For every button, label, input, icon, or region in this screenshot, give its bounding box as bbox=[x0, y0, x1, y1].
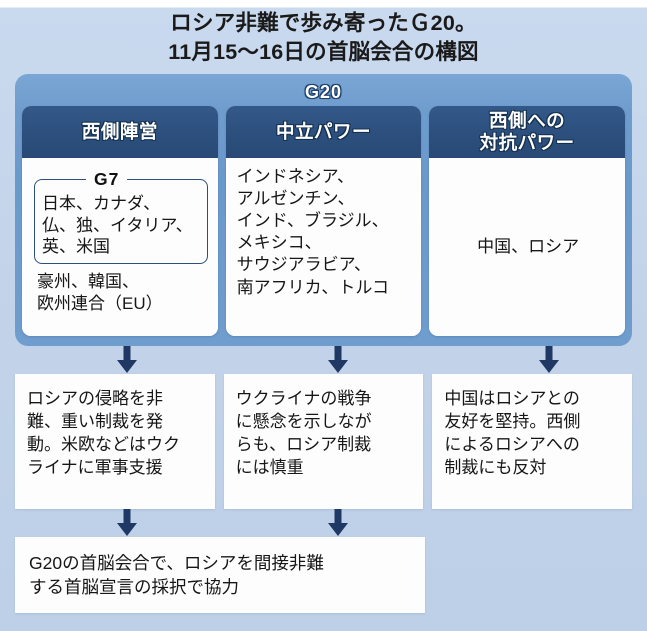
camp-counter-western-header-line-2: 対抗パワー bbox=[480, 132, 575, 154]
outcome-box-neutral: ウクライナの戦争 に懸念を示しなが らも、ロシア制裁 には慎重 bbox=[224, 374, 424, 509]
neutral-member-line-6: 南アフリカ、トルコ bbox=[237, 277, 413, 299]
neutral-member-line-3: インド、ブラジル、 bbox=[237, 210, 413, 232]
western-bloc-extra-members: 豪州、韓国、 欧州連合（EU） bbox=[33, 270, 209, 315]
down-arrow-icon-to-conclusion-right bbox=[325, 509, 351, 537]
g7-group-legend: G7 bbox=[86, 168, 127, 191]
neutral-powers-member-list: インドネシア、 アルゼンチン、 インド、ブラジル、 メキシコ、 サウジアラビア、… bbox=[237, 166, 413, 299]
outcome-western-line-4: ライナに軍事支援 bbox=[27, 456, 205, 479]
western-bloc-extra-line-1: 豪州、韓国、 bbox=[37, 271, 207, 293]
g7-member-line-3: 英、米国 bbox=[42, 236, 201, 258]
neutral-member-line-4: メキシコ、 bbox=[237, 232, 413, 254]
outcome-counter-line-3: によるロシアへの bbox=[444, 433, 622, 456]
camp-neutral-powers: 中立パワー インドネシア、 アルゼンチン、 インド、ブラジル、 メキシコ、 サウ… bbox=[226, 106, 422, 336]
infographic-root: ロシア非難で歩み寄ったＧ20。 11月15〜16日の首脳会合の構図 G20 西側… bbox=[0, 0, 647, 631]
conclusion-wrapper: G20の首脳会合で、ロシアを間接非難 する首脳宣言の採択で協力 bbox=[15, 537, 632, 613]
camp-western-bloc: 西側陣営 G7 日本、カナダ、 仏、独、イタリア、 英、米国 豪州、韓国、 欧州… bbox=[22, 106, 218, 336]
arrow-row-top bbox=[7, 346, 640, 374]
outcome-neutral-line-4: には慎重 bbox=[236, 456, 414, 479]
g20-panel: G20 西側陣営 G7 日本、カナダ、 仏、独、イタリア、 英、米国 bbox=[15, 74, 632, 346]
outcome-boxes: ロシアの侵略を非 難、重い制裁を発 動。米欧などはウク ライナに軍事支援 ウクラ… bbox=[15, 374, 632, 509]
camp-neutral-powers-header: 中立パワー bbox=[226, 106, 422, 158]
down-arrow-icon-west bbox=[114, 346, 140, 374]
camp-columns: 西側陣営 G7 日本、カナダ、 仏、独、イタリア、 英、米国 豪州、韓国、 欧州… bbox=[22, 106, 625, 336]
outcome-neutral-line-1: ウクライナの戦争 bbox=[236, 387, 414, 410]
conclusion-line-2: する首脳宣言の採択で協力 bbox=[29, 575, 415, 599]
outcome-neutral-line-2: に懸念を示しなが bbox=[236, 410, 414, 433]
page-title-line-1: ロシア非難で歩み寄ったＧ20。 bbox=[7, 9, 640, 38]
camp-neutral-powers-header-line-1: 中立パワー bbox=[276, 121, 371, 143]
page-title: ロシア非難で歩み寄ったＧ20。 11月15〜16日の首脳会合の構図 bbox=[7, 0, 640, 67]
g20-panel-label: G20 bbox=[22, 80, 625, 106]
outcome-neutral-line-3: らも、ロシア制裁 bbox=[236, 433, 414, 456]
camp-western-bloc-body: G7 日本、カナダ、 仏、独、イタリア、 英、米国 豪州、韓国、 欧州連合（EU… bbox=[22, 158, 218, 336]
arrow-row-bottom bbox=[7, 509, 640, 537]
outcome-box-counter: 中国はロシアとの 友好を堅持。西側 によるロシアへの 制裁にも反対 bbox=[432, 374, 632, 509]
outcome-counter-line-4: 制裁にも反対 bbox=[444, 456, 622, 479]
camp-western-bloc-header: 西側陣営 bbox=[22, 106, 218, 158]
camp-counter-western-powers-body: 中国、ロシア bbox=[429, 158, 625, 336]
neutral-member-line-1: インドネシア、 bbox=[237, 166, 413, 188]
outcome-western-line-1: ロシアの侵略を非 bbox=[27, 387, 205, 410]
outcome-western-line-2: 難、重い制裁を発 bbox=[27, 410, 205, 433]
camp-counter-western-header-line-1: 西側への bbox=[480, 110, 575, 132]
g7-member-line-1: 日本、カナダ、 bbox=[42, 193, 201, 215]
page-title-line-2: 11月15〜16日の首脳会合の構図 bbox=[7, 38, 640, 67]
outcome-box-western: ロシアの侵略を非 難、重い制裁を発 動。米欧などはウク ライナに軍事支援 bbox=[15, 374, 215, 509]
western-bloc-extra-line-2: 欧州連合（EU） bbox=[37, 293, 207, 315]
outcome-counter-line-1: 中国はロシアとの bbox=[444, 387, 622, 410]
down-arrow-icon-counter bbox=[536, 346, 562, 374]
down-arrow-icon-to-conclusion-left bbox=[114, 509, 140, 537]
g7-member-list: 日本、カナダ、 仏、独、イタリア、 英、米国 bbox=[42, 193, 201, 258]
g7-group-box: G7 日本、カナダ、 仏、独、イタリア、 英、米国 bbox=[34, 168, 208, 264]
down-arrow-icon-neutral bbox=[325, 346, 351, 374]
counter-western-member-line-1: 中国、ロシア bbox=[477, 236, 579, 258]
conclusion-box: G20の首脳会合で、ロシアを間接非難 する首脳宣言の採択で協力 bbox=[15, 537, 425, 613]
outcome-western-line-3: 動。米欧などはウク bbox=[27, 433, 205, 456]
g7-member-line-2: 仏、独、イタリア、 bbox=[42, 215, 201, 237]
outcome-counter-line-2: 友好を堅持。西側 bbox=[444, 410, 622, 433]
camp-counter-western-powers: 西側への 対抗パワー 中国、ロシア bbox=[429, 106, 625, 336]
camp-counter-western-powers-header: 西側への 対抗パワー bbox=[429, 106, 625, 158]
neutral-member-line-5: サウジアラビア、 bbox=[237, 254, 413, 276]
camp-western-bloc-header-line-1: 西側陣営 bbox=[82, 121, 158, 143]
neutral-member-line-2: アルゼンチン、 bbox=[237, 188, 413, 210]
conclusion-line-1: G20の首脳会合で、ロシアを間接非難 bbox=[29, 551, 415, 575]
camp-neutral-powers-body: インドネシア、 アルゼンチン、 インド、ブラジル、 メキシコ、 サウジアラビア、… bbox=[226, 158, 422, 336]
